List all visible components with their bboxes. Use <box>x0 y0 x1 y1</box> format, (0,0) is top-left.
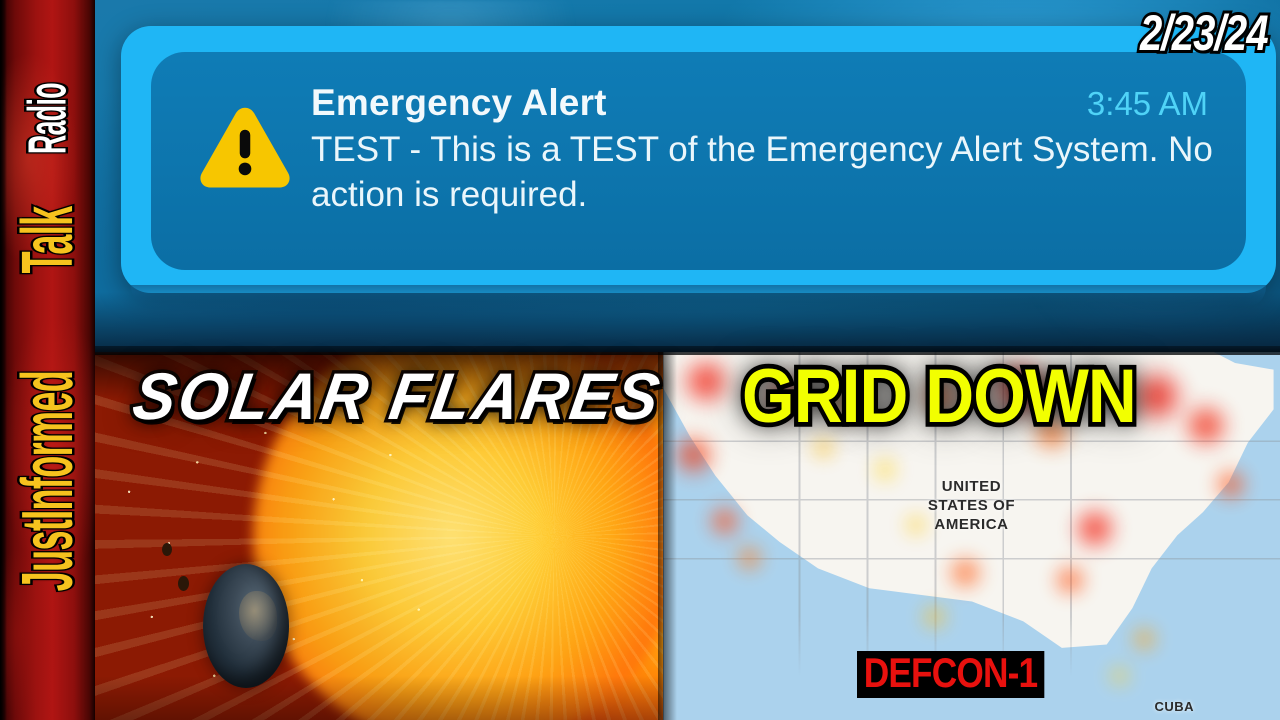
alert-text-body: Emergency Alert 3:45 AM TEST - This is a… <box>311 76 1220 218</box>
alert-title: Emergency Alert <box>311 82 607 124</box>
emergency-alert-panel: Emergency Alert 3:45 AM TEST - This is a… <box>95 0 1280 352</box>
earth-silhouette <box>203 564 289 688</box>
alert-header-row: Emergency Alert 3:45 AM <box>311 82 1220 124</box>
map-country-label: UNITED STATES OF AMERICA <box>928 477 1015 535</box>
brand-word-radio: Radio <box>21 83 75 154</box>
panel-bottom-shade <box>95 292 1280 352</box>
brand-word-talk: Talk <box>11 206 84 273</box>
branding-rail-text: JustInformed Talk Radio <box>19 61 77 659</box>
debris-speck-2 <box>178 576 189 591</box>
map-country-label-line2: STATES OF <box>928 496 1015 515</box>
alert-timestamp: 3:45 AM <box>1087 85 1220 123</box>
warning-triangle-icon <box>191 102 299 188</box>
map-country-label-line1: UNITED <box>928 477 1015 496</box>
grid-down-title: GRID DOWN <box>742 353 1136 440</box>
defcon-badge: DEFCON-1 <box>857 651 1044 698</box>
alert-outer-frame: Emergency Alert 3:45 AM TEST - This is a… <box>121 26 1276 293</box>
earth-landmass <box>239 591 277 641</box>
date-badge: 2/23/24 <box>1140 4 1268 62</box>
alert-notification-card[interactable]: Emergency Alert 3:45 AM TEST - This is a… <box>151 52 1246 270</box>
map-country-label-line3: AMERICA <box>928 515 1015 534</box>
branding-sidebar: JustInformed Talk Radio <box>0 0 95 720</box>
map-cuba-label: CUBA <box>1154 699 1194 714</box>
brand-word-justinformed: JustInformed <box>11 371 84 591</box>
map-left-shade <box>663 352 677 720</box>
solar-flares-title: SOLAR FLARES <box>128 358 667 434</box>
thumbnail-canvas: JustInformed Talk Radio Emergency Alert <box>0 0 1280 720</box>
alert-message: TEST - This is a TEST of the Emergency A… <box>311 128 1220 218</box>
debris-speck-1 <box>162 543 172 556</box>
